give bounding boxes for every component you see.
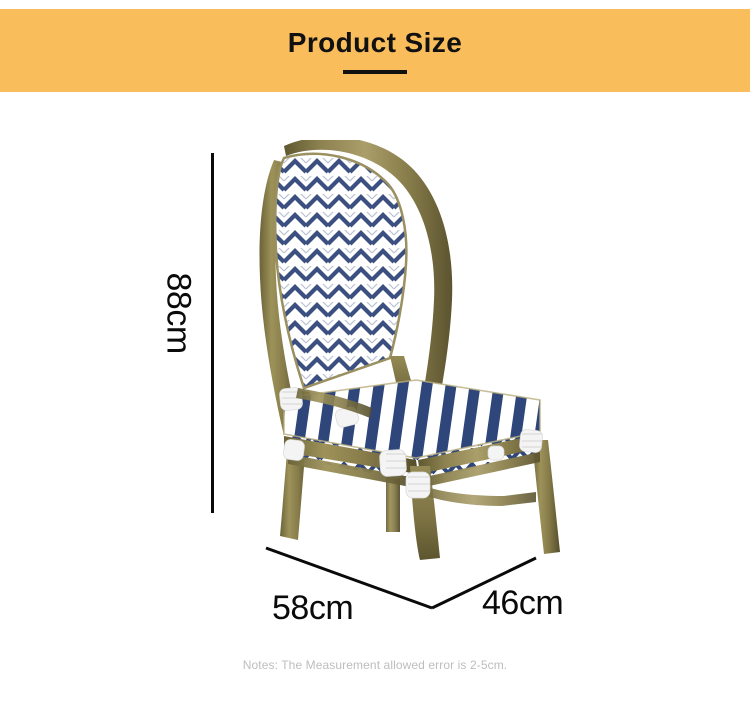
product-size-page: Product Size [0, 0, 750, 701]
page-title: Product Size [288, 29, 462, 57]
chair-illustration-svg [240, 140, 570, 560]
depth-dimension-label: 58cm [272, 589, 353, 628]
width-dimension-label: 46cm [482, 584, 563, 623]
height-dimension-label: 88cm [159, 273, 198, 329]
header-band: Product Size [0, 9, 750, 92]
measurement-notes: Notes: The Measurement allowed error is … [0, 658, 750, 672]
product-image-bistro-chair [240, 140, 570, 560]
height-dimension-line [211, 153, 214, 513]
title-underline-rule [343, 70, 407, 74]
